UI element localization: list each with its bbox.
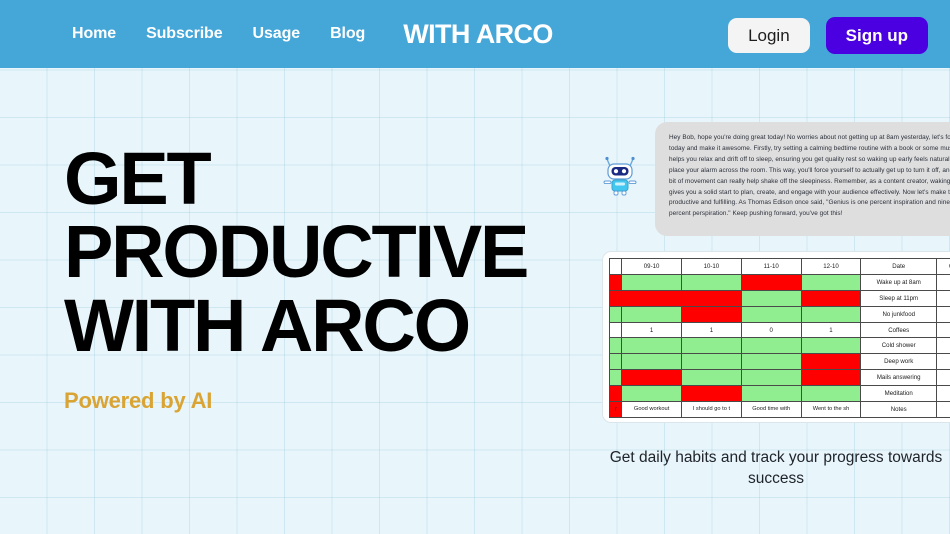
table-row: Meditation60 % [610, 386, 950, 402]
table-cell-status[interactable] [741, 290, 801, 306]
table-cell-status[interactable] [682, 306, 742, 322]
table-row: Sleep at 11pm20 % [610, 290, 950, 306]
table-cell-status[interactable] [801, 290, 861, 306]
table-row-notes: rGood workout I should go to tGood time … [610, 402, 950, 418]
table-cell-status[interactable] [682, 338, 742, 354]
chat-message-text: Hey Bob, hope you're doing great today! … [669, 133, 950, 220]
landing-page: Home Subscribe Usage Blog WITH ARCO Logi… [0, 0, 950, 534]
habit-table: 09-1010-1011-1012-10Date65.7 %Wake up at… [609, 258, 950, 418]
login-button[interactable]: Login [728, 18, 810, 53]
table-cell-value[interactable]: Went to the sh [801, 402, 861, 418]
table-cell-status[interactable] [741, 386, 801, 402]
table-row: 1101Coffees [610, 322, 950, 338]
table-row-label: Cold shower [861, 338, 937, 354]
table-row-label: Sleep at 11pm [861, 290, 937, 306]
table-cell-value[interactable]: Good workout [622, 402, 682, 418]
table-header-date: 09-10 [622, 259, 682, 275]
table-row-percent [937, 322, 950, 338]
table-cell-value[interactable]: Good time with [741, 402, 801, 418]
table-cell-value[interactable]: 1 [801, 322, 861, 338]
table-row: Mails answering60 % [610, 370, 950, 386]
table-header-row: 09-1010-1011-1012-10Date65.7 % [610, 259, 950, 275]
table-cell-status[interactable] [801, 306, 861, 322]
nav-actions: Login Sign up [728, 17, 928, 54]
table-cell-status[interactable] [682, 290, 742, 306]
table-row-label: Mails answering [861, 370, 937, 386]
nav-link-home[interactable]: Home [72, 25, 116, 43]
nav-links: Home Subscribe Usage Blog [72, 25, 365, 43]
table-cell-status[interactable] [741, 274, 801, 290]
hero-title-line-3: WITH ARCO [64, 289, 624, 362]
table-row: Wake up at 8am60 % [610, 274, 950, 290]
table-row-percent: 20 % [937, 290, 950, 306]
table-row-percent: 60 % [937, 370, 950, 386]
table-row: Cold shower100 % [610, 338, 950, 354]
table-cell-value[interactable]: 0 [741, 322, 801, 338]
table-row: No junkfood80 % [610, 306, 950, 322]
table-header-date: 11-10 [741, 259, 801, 275]
table-cell-value[interactable]: 1 [622, 322, 682, 338]
table-cell-status[interactable] [682, 370, 742, 386]
table-header-date: 10-10 [682, 259, 742, 275]
table-cell-status[interactable] [741, 338, 801, 354]
table-cell-status[interactable] [622, 354, 682, 370]
table-row-percent: 100 % [937, 338, 950, 354]
hero-title-line-1: GET [64, 142, 624, 215]
table-row-percent: 80 % [937, 306, 950, 322]
table-row-label: No junkfood [861, 306, 937, 322]
table-header-label: Date [861, 259, 937, 275]
hero-left: GET PRODUCTIVE WITH ARCO Powered by AI [64, 142, 624, 414]
table-cell-status[interactable] [741, 354, 801, 370]
table-row-label: Meditation [861, 386, 937, 402]
table-cell-value[interactable]: 1 [682, 322, 742, 338]
table-row-percent [937, 402, 950, 418]
hero-caption: Get daily habits and track your progress… [596, 448, 950, 489]
hero-right: Hey Bob, hope you're doing great today! … [590, 118, 950, 236]
habit-table-body: 09-1010-1011-1012-10Date65.7 %Wake up at… [610, 259, 950, 418]
hero-subtitle: Powered by AI [64, 388, 624, 414]
table-row-percent: 80 % [937, 354, 950, 370]
table-cell-status[interactable] [741, 306, 801, 322]
table-cell-status[interactable] [801, 354, 861, 370]
habit-tracker-card: 09-1010-1011-1012-10Date65.7 %Wake up at… [602, 251, 950, 423]
table-row-label: Notes [861, 402, 937, 418]
table-row-label: Coffees [861, 322, 937, 338]
table-row-percent: 60 % [937, 386, 950, 402]
table-header-date: 12-10 [801, 259, 861, 275]
table-cell-status[interactable] [622, 338, 682, 354]
table-row-percent: 60 % [937, 274, 950, 290]
table-cell-status[interactable] [801, 274, 861, 290]
table-cell-status[interactable] [801, 386, 861, 402]
table-cell-status[interactable] [622, 290, 682, 306]
nav-link-subscribe[interactable]: Subscribe [146, 25, 222, 43]
table-cell-status[interactable] [622, 274, 682, 290]
brand-logo[interactable]: WITH ARCO [403, 21, 553, 48]
table-header-percent: 65.7 % [937, 259, 950, 275]
table-cell-status[interactable] [741, 370, 801, 386]
table-cell-status[interactable] [801, 370, 861, 386]
top-navbar: Home Subscribe Usage Blog WITH ARCO Logi… [0, 0, 950, 68]
page-title: GET PRODUCTIVE WITH ARCO [64, 142, 624, 362]
table-cell-status[interactable] [682, 386, 742, 402]
table-row-label: Deep work [861, 354, 937, 370]
table-cell-status[interactable] [622, 370, 682, 386]
table-cell-status[interactable] [622, 306, 682, 322]
hero-title-line-2: PRODUCTIVE [64, 215, 624, 288]
chat-row: Hey Bob, hope you're doing great today! … [590, 118, 950, 236]
table-cell-status[interactable] [682, 354, 742, 370]
chat-bubble: Hey Bob, hope you're doing great today! … [655, 122, 950, 236]
nav-link-usage[interactable]: Usage [253, 25, 301, 43]
nav-link-blog[interactable]: Blog [330, 25, 365, 43]
table-row: Deep work80 % [610, 354, 950, 370]
table-cell-status[interactable] [622, 386, 682, 402]
table-cell-status[interactable] [801, 338, 861, 354]
table-cell-status[interactable] [682, 274, 742, 290]
table-row-label: Wake up at 8am [861, 274, 937, 290]
signup-button[interactable]: Sign up [826, 17, 928, 54]
table-cell-value[interactable]: I should go to t [682, 402, 742, 418]
